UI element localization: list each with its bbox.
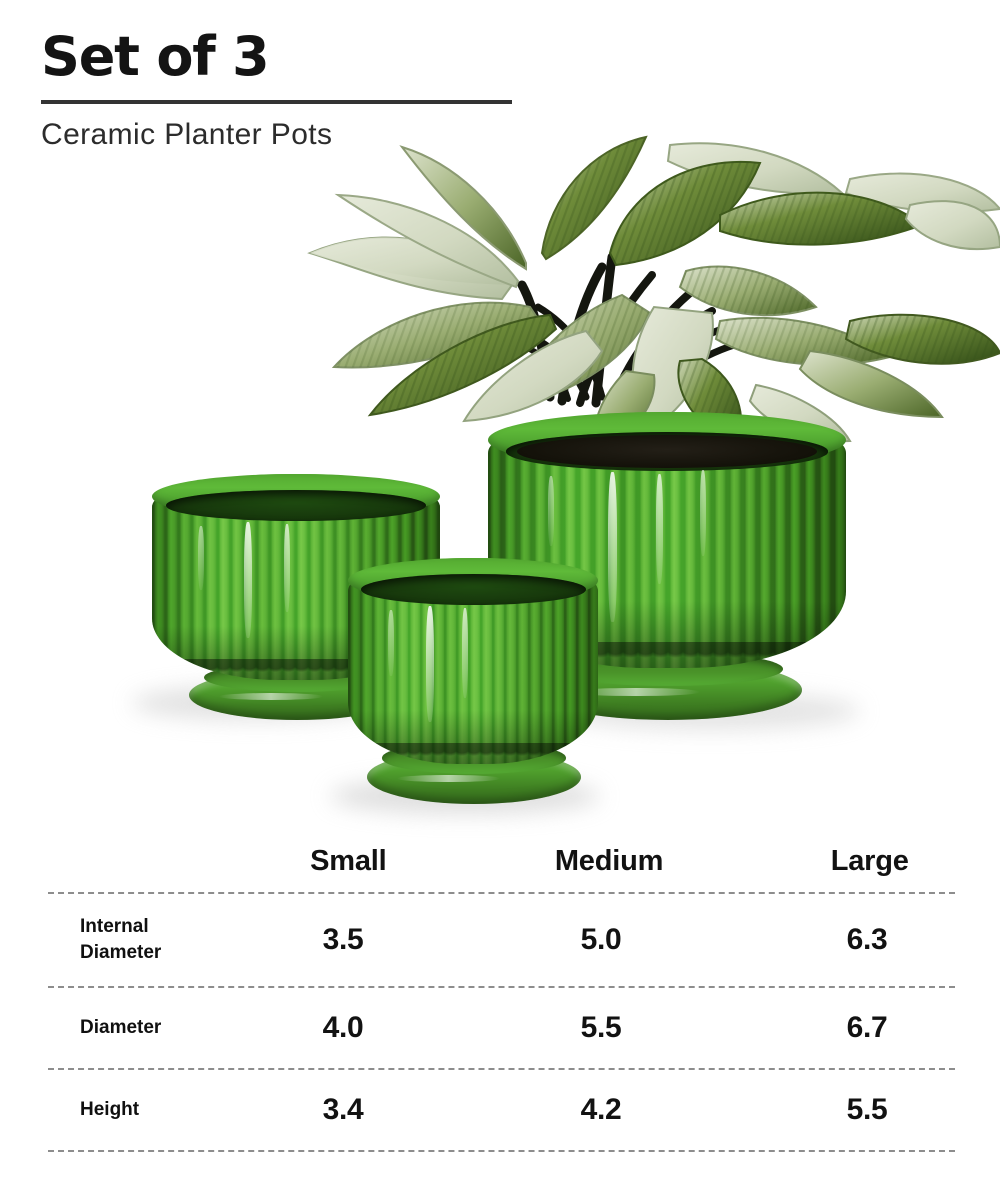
pot-medium-body — [348, 558, 598, 764]
cell-height-large: 5.5 — [734, 1093, 1000, 1127]
page-title: Set of 3 — [41, 30, 561, 84]
cell-internal-diameter-large: 6.3 — [734, 923, 1000, 957]
column-header-large: Large — [739, 845, 1000, 878]
saucer-small-gloss — [219, 693, 323, 700]
column-header-small: Small — [218, 845, 479, 878]
pot-small-highlight-2 — [284, 524, 290, 612]
pot-large-highlight-4 — [548, 476, 554, 546]
table-row: Height 3.4 4.2 5.5 — [0, 1070, 1000, 1150]
houseplant — [250, 135, 1000, 445]
row-label-diameter: Diameter — [0, 1015, 218, 1041]
product-photo — [0, 140, 1000, 820]
pot-large-highlight-3 — [700, 470, 706, 556]
pot-medium-highlight-3 — [388, 610, 394, 676]
cell-diameter-large: 6.7 — [734, 1011, 1000, 1045]
row-label-height: Height — [0, 1097, 218, 1123]
table-row: Internal Diameter 3.5 5.0 6.3 — [0, 894, 1000, 986]
spec-table: Small Medium Large Internal Diameter 3.5… — [0, 830, 1000, 1152]
cell-height-medium: 4.2 — [468, 1093, 734, 1127]
table-row: Diameter 4.0 5.5 6.7 — [0, 988, 1000, 1068]
pot-medium-highlight-1 — [426, 606, 434, 722]
row-label-internal-diameter: Internal Diameter — [0, 914, 218, 965]
pot-medium-bottom-shade — [348, 710, 598, 764]
cell-diameter-medium: 5.5 — [468, 1011, 734, 1045]
cell-height-small: 3.4 — [218, 1093, 468, 1127]
product-infographic: Set of 3 Ceramic Planter Pots — [0, 0, 1000, 1200]
table-divider-bottom — [48, 1150, 955, 1152]
cell-diameter-small: 4.0 — [218, 1011, 468, 1045]
pot-large-highlight-1 — [608, 472, 617, 622]
pot-small-highlight-3 — [198, 526, 204, 590]
pot-medium — [348, 558, 600, 800]
pot-large-highlight-2 — [656, 474, 663, 584]
pot-small-highlight-1 — [244, 522, 252, 638]
cell-internal-diameter-small: 3.5 — [218, 923, 468, 957]
title-divider — [41, 100, 512, 104]
pot-medium-highlight-2 — [462, 608, 468, 698]
cell-internal-diameter-medium: 5.0 — [468, 923, 734, 957]
column-header-medium: Medium — [479, 845, 740, 878]
spec-table-header-row: Small Medium Large — [0, 830, 1000, 892]
header: Set of 3 Ceramic Planter Pots — [41, 30, 561, 151]
